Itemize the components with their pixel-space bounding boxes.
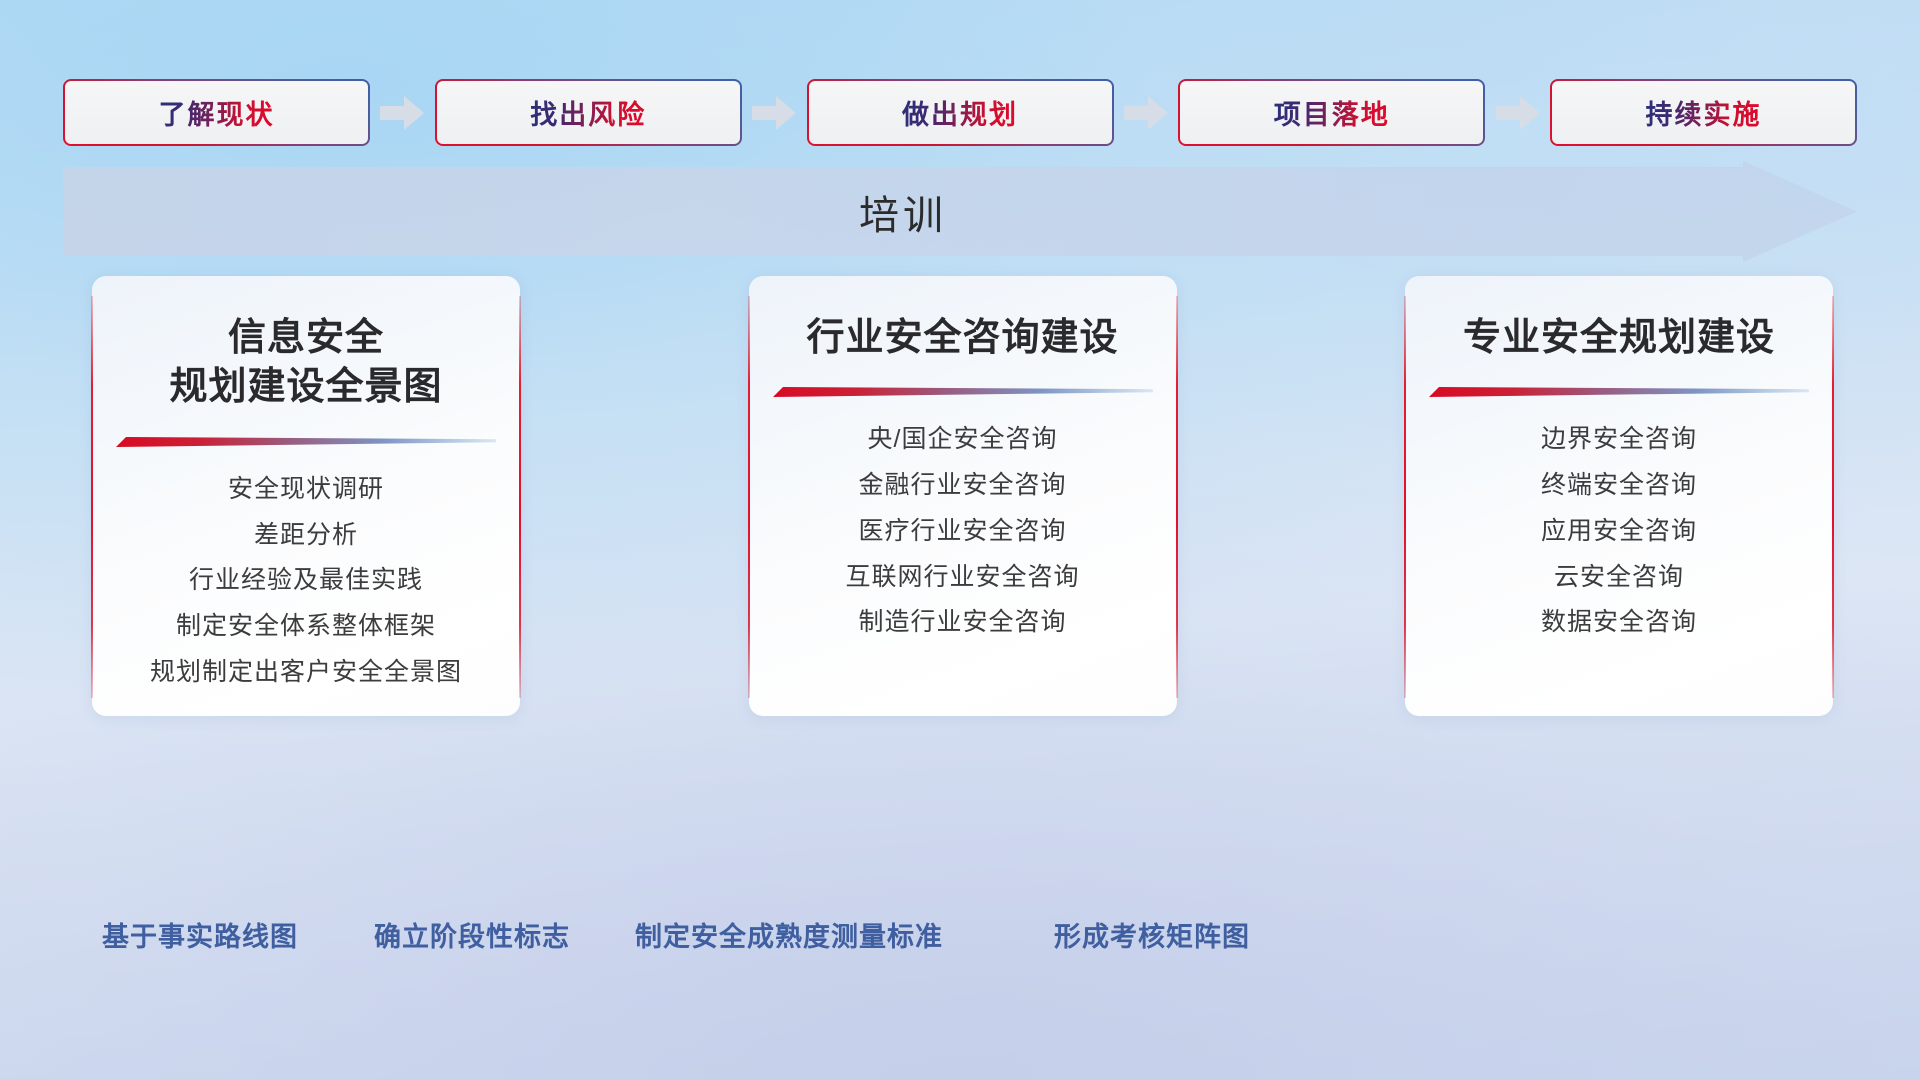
step-box-3[interactable]: 做出规划 (807, 79, 1114, 146)
bottom-label-2: 确立阶段性标志 (374, 915, 570, 954)
card-professional-security-planning[interactable]: 专业安全规划建设 (1405, 276, 1833, 716)
card-1-list-item-2: 差距分析 (254, 519, 358, 553)
card-2-list-item-2: 金融行业安全咨询 (858, 469, 1066, 503)
bottom-label-1: 基于事实路线图 (102, 915, 298, 954)
step-box-4[interactable]: 项目落地 (1178, 79, 1485, 146)
card-info-security-blueprint[interactable]: 信息安全 规划建设全景图 (92, 276, 520, 716)
card-industry-security-consulting[interactable]: 行业安全咨询建设 (749, 276, 1177, 716)
card-2-divider (773, 385, 1153, 399)
card-3-list-item-5: 数据安全咨询 (1541, 606, 1697, 640)
training-banner-label: 培训 (63, 161, 1743, 262)
step-box-5[interactable]: 持续实施 (1550, 79, 1857, 146)
step-label-1: 了解现状 (159, 93, 275, 132)
card-1-title: 信息安全 规划建设全景图 (169, 314, 442, 413)
step-box-3-inner: 做出规划 (809, 81, 1112, 144)
step-box-2[interactable]: 找出风险 (435, 79, 742, 146)
step-box-4-inner: 项目落地 (1180, 81, 1483, 144)
card-3-divider (1429, 385, 1809, 399)
step-label-5: 持续实施 (1646, 93, 1762, 132)
training-banner-arrow: 培训 (63, 161, 1857, 262)
card-3-title: 专业安全规划建设 (1463, 314, 1775, 363)
card-1-divider (116, 435, 496, 449)
process-step-row: 了解现状 找出风险 做出规划 项目落地 (63, 79, 1857, 146)
card-3-list-item-3: 应用安全咨询 (1541, 515, 1697, 549)
card-3-list: 边界安全咨询 终端安全咨询 应用安全咨询 云安全咨询 数据安全咨询 (1541, 423, 1697, 640)
card-2-content: 行业安全咨询建设 (749, 276, 1177, 716)
step-box-2-inner: 找出风险 (437, 81, 740, 144)
card-1-list: 安全现状调研 差距分析 行业经验及最佳实践 制定安全体系整体框架 规划制定出客户… (150, 473, 462, 690)
step-arrow-icon-4 (1485, 96, 1550, 130)
card-2-title: 行业安全咨询建设 (806, 314, 1118, 363)
card-2-list: 央/国企安全咨询 金融行业安全咨询 医疗行业安全咨询 互联网行业安全咨询 制造行… (845, 423, 1079, 640)
card-2-list-item-4: 互联网行业安全咨询 (845, 561, 1079, 595)
bottom-label-row: 基于事实路线图 确立阶段性标志 制定安全成熟度测量标准 形成考核矩阵图 (0, 915, 1920, 959)
card-1-list-item-4: 制定安全体系整体框架 (176, 610, 436, 644)
step-label-3: 做出规划 (902, 93, 1018, 132)
card-1-list-item-3: 行业经验及最佳实践 (189, 564, 423, 598)
card-1-content: 信息安全 规划建设全景图 (92, 276, 520, 716)
card-2-list-item-5: 制造行业安全咨询 (858, 606, 1066, 640)
step-label-4: 项目落地 (1274, 93, 1390, 132)
step-arrow-icon-2 (742, 96, 807, 130)
card-1-list-item-1: 安全现状调研 (228, 473, 384, 507)
step-box-1[interactable]: 了解现状 (63, 79, 370, 146)
card-3-list-item-4: 云安全咨询 (1554, 561, 1684, 595)
step-arrow-icon-3 (1114, 96, 1179, 130)
step-arrow-icon-1 (370, 96, 435, 130)
card-2-list-item-1: 央/国企安全咨询 (868, 423, 1058, 457)
card-3-content: 专业安全规划建设 (1405, 276, 1833, 716)
step-box-1-inner: 了解现状 (65, 81, 368, 144)
bottom-label-4: 形成考核矩阵图 (1054, 915, 1250, 954)
card-2-list-item-3: 医疗行业安全咨询 (858, 515, 1066, 549)
bottom-label-3: 制定安全成熟度测量标准 (635, 915, 943, 954)
card-1-list-item-5: 规划制定出客户安全全景图 (150, 656, 462, 690)
card-3-list-item-2: 终端安全咨询 (1541, 469, 1697, 503)
card-row: 信息安全 规划建设全景图 (92, 276, 1833, 716)
step-label-2: 找出风险 (530, 93, 646, 132)
step-box-5-inner: 持续实施 (1552, 81, 1855, 144)
card-3-list-item-1: 边界安全咨询 (1541, 423, 1697, 457)
